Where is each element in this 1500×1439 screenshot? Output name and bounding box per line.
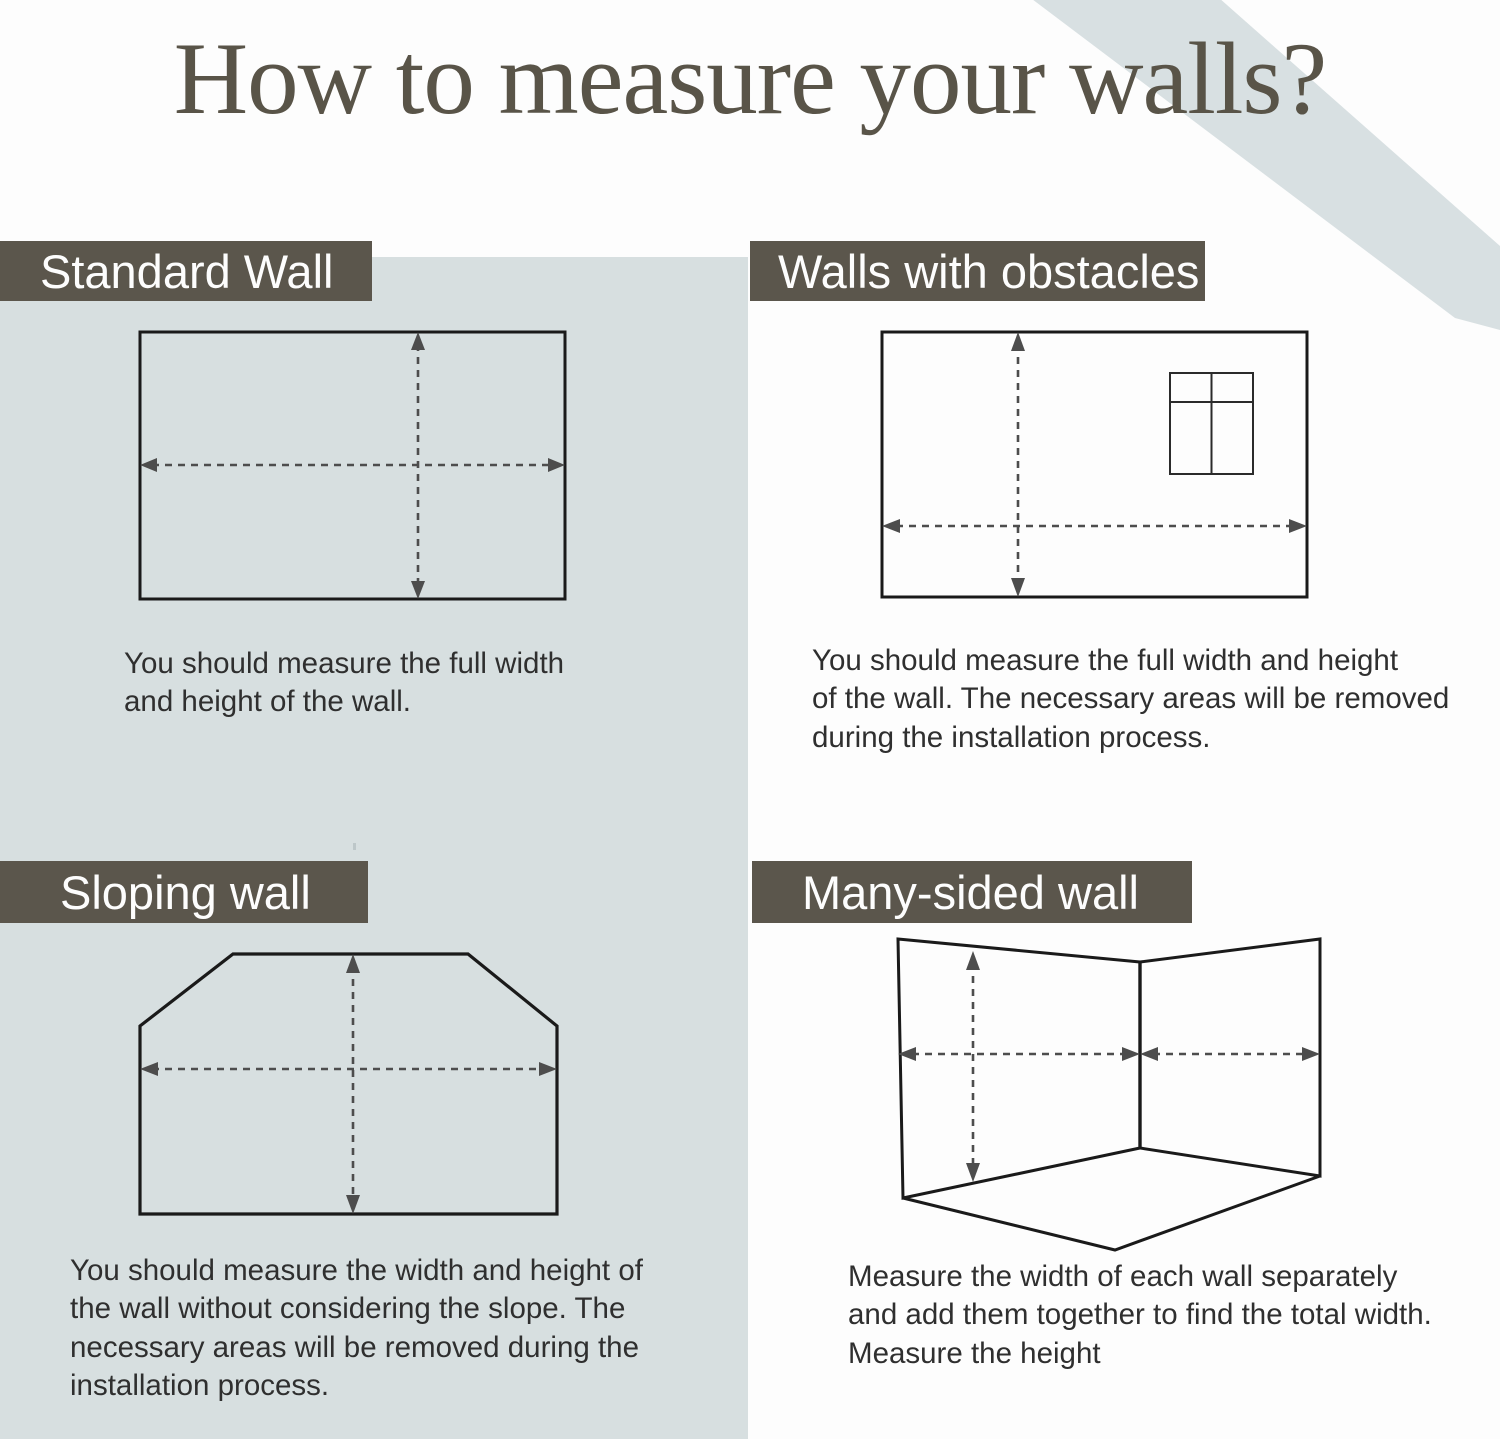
caption-sloping-wall: You should measure the width and height … [70,1252,690,1405]
window-obstacle-icon [1170,373,1253,474]
wall-with-window-icon [860,320,1340,620]
decorative-speck [353,843,356,850]
sloping-wall-icon [120,940,590,1260]
caption-walls-with-obstacles: You should measure the full width and he… [812,642,1472,757]
section-tab-sloping-wall[interactable]: Sloping wall [0,861,368,923]
section-tab-many-sided-wall[interactable]: Many-sided wall [752,861,1192,923]
caption-standard-wall: You should measure the full width and he… [124,645,644,722]
caption-many-sided-wall: Measure the width of each wall separatel… [848,1258,1468,1373]
infographic-canvas: How to measure your walls? Standard Wall… [0,0,1500,1439]
standard-wall-icon [120,320,590,620]
many-sided-wall-icon [870,920,1350,1265]
page-title: How to measure your walls? [0,22,1500,137]
section-tab-walls-with-obstacles[interactable]: Walls with obstacles [750,241,1205,301]
section-tab-standard-wall[interactable]: Standard Wall [0,241,372,301]
